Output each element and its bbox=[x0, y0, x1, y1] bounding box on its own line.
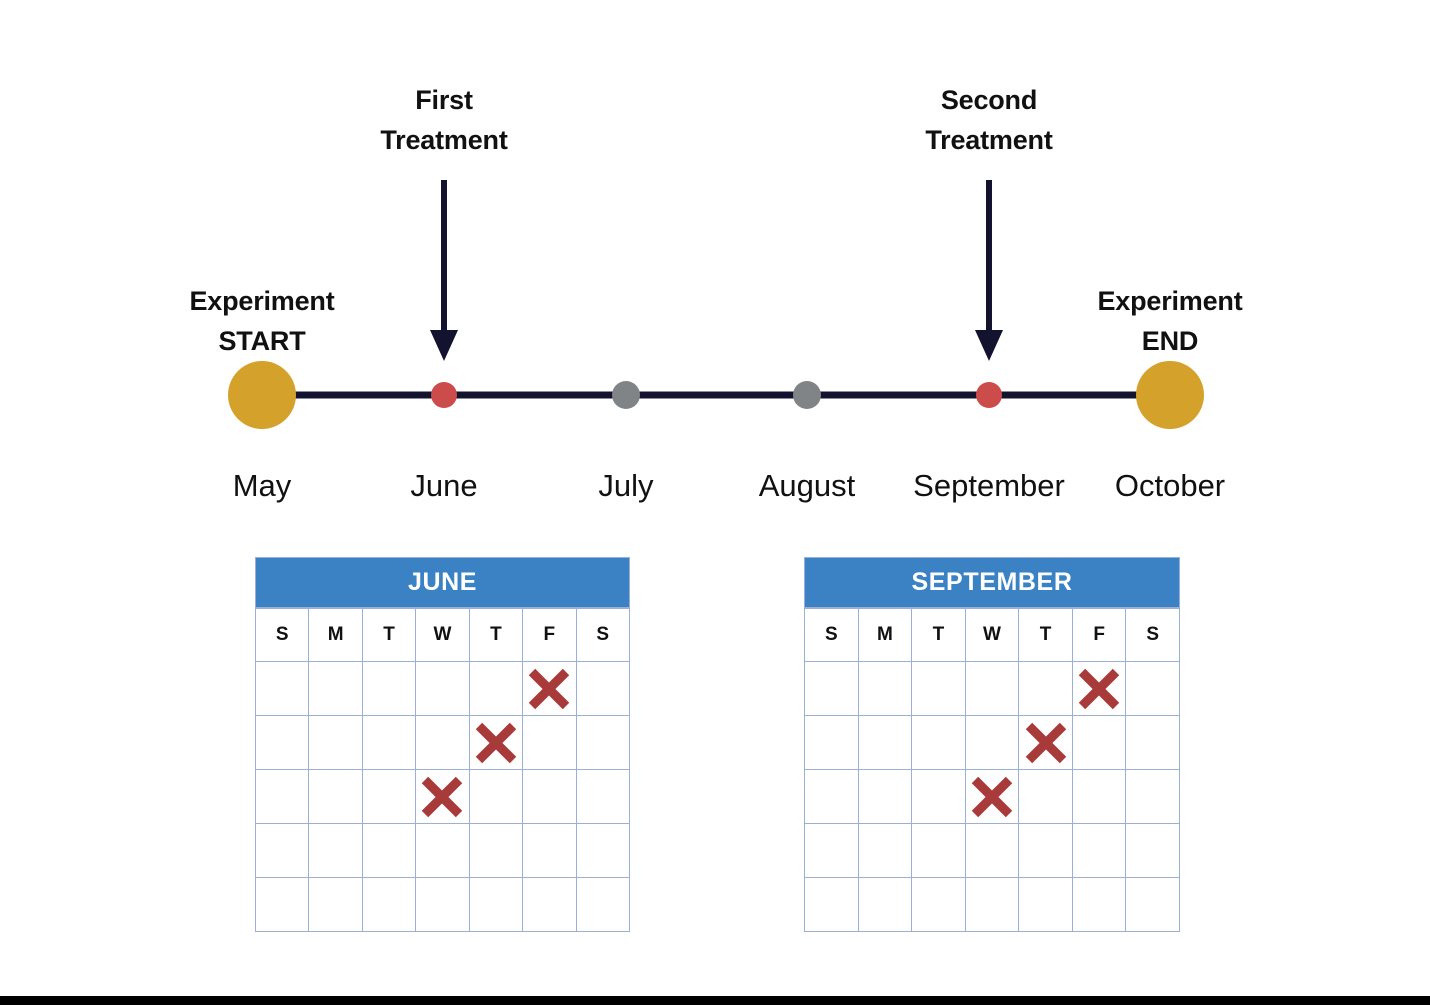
june-calendar-cell-r3-c2[interactable] bbox=[363, 770, 416, 824]
june-calendar-cell-r3-c1[interactable] bbox=[309, 770, 362, 824]
september-calendar-dow-3: W bbox=[966, 609, 1020, 662]
june-calendar-cell-r2-c1[interactable] bbox=[309, 716, 362, 770]
timeline-node-may[interactable] bbox=[228, 361, 296, 429]
june-calendar-cell-r3-c4[interactable] bbox=[470, 770, 523, 824]
september-calendar-cell-r2-c1[interactable] bbox=[859, 716, 913, 770]
month-label-august: August bbox=[759, 468, 856, 504]
september-calendar-cell-r3-c6[interactable] bbox=[1126, 770, 1180, 824]
june-calendar-cell-r1-c6[interactable] bbox=[577, 662, 630, 716]
september-calendar-cell-r5-c2[interactable] bbox=[912, 878, 966, 932]
september-calendar-cell-r1-c6[interactable] bbox=[1126, 662, 1180, 716]
bottom-bar bbox=[0, 996, 1430, 1005]
june-calendar-cell-r2-c0[interactable] bbox=[256, 716, 309, 770]
june-calendar-cell-r3-c0[interactable] bbox=[256, 770, 309, 824]
june-calendar-header: JUNE bbox=[255, 557, 630, 608]
treatment-x-icon bbox=[526, 666, 572, 712]
month-label-october: October bbox=[1115, 468, 1225, 504]
june-calendar-title: JUNE bbox=[408, 568, 477, 597]
june-calendar-cell-r4-c0[interactable] bbox=[256, 824, 309, 878]
arrow-first-treatment-head bbox=[430, 330, 458, 361]
september-calendar-cell-r5-c3[interactable] bbox=[966, 878, 1020, 932]
treatment-x-icon bbox=[473, 720, 519, 766]
june-calendar-cell-r5-c2[interactable] bbox=[363, 878, 416, 932]
september-calendar-dow-6: S bbox=[1126, 609, 1180, 662]
september-calendar-cell-r1-c0[interactable] bbox=[805, 662, 859, 716]
june-calendar-cell-r4-c4[interactable] bbox=[470, 824, 523, 878]
september-calendar-cell-r5-c5[interactable] bbox=[1073, 878, 1127, 932]
month-label-june: June bbox=[410, 468, 477, 504]
june-calendar-cell-r5-c3[interactable] bbox=[416, 878, 469, 932]
june-calendar-dow-3: W bbox=[416, 609, 469, 662]
june-calendar-cell-r4-c1[interactable] bbox=[309, 824, 362, 878]
month-label-september: September bbox=[913, 468, 1065, 504]
september-calendar-cell-r4-c0[interactable] bbox=[805, 824, 859, 878]
june-calendar-cell-r1-c3[interactable] bbox=[416, 662, 469, 716]
june-calendar-cell-r3-c3[interactable] bbox=[416, 770, 469, 824]
september-calendar-cell-r2-c6[interactable] bbox=[1126, 716, 1180, 770]
june-calendar: JUNESMTWTFS bbox=[255, 557, 630, 932]
september-calendar-cell-r5-c0[interactable] bbox=[805, 878, 859, 932]
june-calendar-cell-r4-c6[interactable] bbox=[577, 824, 630, 878]
june-calendar-cell-r3-c6[interactable] bbox=[577, 770, 630, 824]
timeline-node-october[interactable] bbox=[1136, 361, 1204, 429]
september-calendar-cell-r1-c2[interactable] bbox=[912, 662, 966, 716]
september-calendar-title: SEPTEMBER bbox=[912, 568, 1073, 597]
june-calendar-cell-r1-c5[interactable] bbox=[523, 662, 576, 716]
september-calendar-cell-r3-c0[interactable] bbox=[805, 770, 859, 824]
september-calendar-cell-r1-c4[interactable] bbox=[1019, 662, 1073, 716]
june-calendar-dow-2: T bbox=[363, 609, 416, 662]
june-calendar-cell-r5-c0[interactable] bbox=[256, 878, 309, 932]
september-calendar-cell-r3-c1[interactable] bbox=[859, 770, 913, 824]
june-calendar-dow-6: S bbox=[577, 609, 630, 662]
june-calendar-dow-0: S bbox=[256, 609, 309, 662]
september-calendar-grid: SMTWTFS bbox=[804, 608, 1180, 932]
september-calendar-cell-r5-c1[interactable] bbox=[859, 878, 913, 932]
timeline-node-june[interactable] bbox=[431, 382, 457, 408]
september-calendar-dow-2: T bbox=[912, 609, 966, 662]
treatment-x-icon bbox=[969, 774, 1015, 820]
september-calendar-cell-r2-c5[interactable] bbox=[1073, 716, 1127, 770]
june-calendar-cell-r4-c5[interactable] bbox=[523, 824, 576, 878]
june-calendar-cell-r5-c1[interactable] bbox=[309, 878, 362, 932]
june-calendar-cell-r5-c6[interactable] bbox=[577, 878, 630, 932]
september-calendar-dow-0: S bbox=[805, 609, 859, 662]
september-calendar-cell-r2-c3[interactable] bbox=[966, 716, 1020, 770]
september-calendar-cell-r4-c3[interactable] bbox=[966, 824, 1020, 878]
september-calendar-cell-r5-c6[interactable] bbox=[1126, 878, 1180, 932]
june-calendar-cell-r2-c3[interactable] bbox=[416, 716, 469, 770]
september-calendar: SEPTEMBERSMTWTFS bbox=[804, 557, 1180, 932]
september-calendar-cell-r2-c4[interactable] bbox=[1019, 716, 1073, 770]
june-calendar-cell-r2-c4[interactable] bbox=[470, 716, 523, 770]
june-calendar-dow-4: T bbox=[470, 609, 523, 662]
september-calendar-cell-r5-c4[interactable] bbox=[1019, 878, 1073, 932]
june-calendar-cell-r4-c2[interactable] bbox=[363, 824, 416, 878]
month-label-may: May bbox=[233, 468, 292, 504]
timeline-node-august[interactable] bbox=[793, 381, 821, 409]
september-calendar-cell-r4-c5[interactable] bbox=[1073, 824, 1127, 878]
arrow-first-treatment bbox=[430, 180, 458, 361]
june-calendar-cell-r3-c5[interactable] bbox=[523, 770, 576, 824]
september-calendar-cell-r4-c6[interactable] bbox=[1126, 824, 1180, 878]
june-calendar-cell-r2-c2[interactable] bbox=[363, 716, 416, 770]
september-calendar-dow-4: T bbox=[1019, 609, 1073, 662]
arrow-second-treatment bbox=[975, 180, 1003, 361]
september-calendar-cell-r4-c4[interactable] bbox=[1019, 824, 1073, 878]
treatment-x-icon bbox=[419, 774, 465, 820]
september-calendar-cell-r4-c1[interactable] bbox=[859, 824, 913, 878]
month-label-july: July bbox=[598, 468, 653, 504]
september-calendar-cell-r3-c3[interactable] bbox=[966, 770, 1020, 824]
june-calendar-cell-r1-c2[interactable] bbox=[363, 662, 416, 716]
september-calendar-cell-r4-c2[interactable] bbox=[912, 824, 966, 878]
september-calendar-cell-r3-c2[interactable] bbox=[912, 770, 966, 824]
june-calendar-cell-r2-c6[interactable] bbox=[577, 716, 630, 770]
june-calendar-cell-r4-c3[interactable] bbox=[416, 824, 469, 878]
treatment-x-icon bbox=[1076, 666, 1122, 712]
june-calendar-cell-r1-c0[interactable] bbox=[256, 662, 309, 716]
june-calendar-cell-r5-c4[interactable] bbox=[470, 878, 523, 932]
september-calendar-cell-r3-c4[interactable] bbox=[1019, 770, 1073, 824]
treatment-x-icon bbox=[1023, 720, 1069, 766]
june-calendar-dow-1: M bbox=[309, 609, 362, 662]
september-calendar-cell-r2-c0[interactable] bbox=[805, 716, 859, 770]
september-calendar-header: SEPTEMBER bbox=[804, 557, 1180, 608]
september-calendar-cell-r1-c1[interactable] bbox=[859, 662, 913, 716]
september-calendar-cell-r1-c3[interactable] bbox=[966, 662, 1020, 716]
june-calendar-cell-r5-c5[interactable] bbox=[523, 878, 576, 932]
june-calendar-dow-5: F bbox=[523, 609, 576, 662]
september-calendar-dow-5: F bbox=[1073, 609, 1127, 662]
timeline-diagram: First Treatment Second Treatment Experim… bbox=[0, 0, 1430, 1005]
june-calendar-cell-r1-c4[interactable] bbox=[470, 662, 523, 716]
june-calendar-grid: SMTWTFS bbox=[255, 608, 630, 932]
september-calendar-dow-1: M bbox=[859, 609, 913, 662]
june-calendar-cell-r1-c1[interactable] bbox=[309, 662, 362, 716]
september-calendar-cell-r3-c5[interactable] bbox=[1073, 770, 1127, 824]
timeline-node-september[interactable] bbox=[976, 382, 1002, 408]
june-calendar-cell-r2-c5[interactable] bbox=[523, 716, 576, 770]
timeline-node-july[interactable] bbox=[612, 381, 640, 409]
arrow-second-treatment-head bbox=[975, 330, 1003, 361]
september-calendar-cell-r2-c2[interactable] bbox=[912, 716, 966, 770]
september-calendar-cell-r1-c5[interactable] bbox=[1073, 662, 1127, 716]
